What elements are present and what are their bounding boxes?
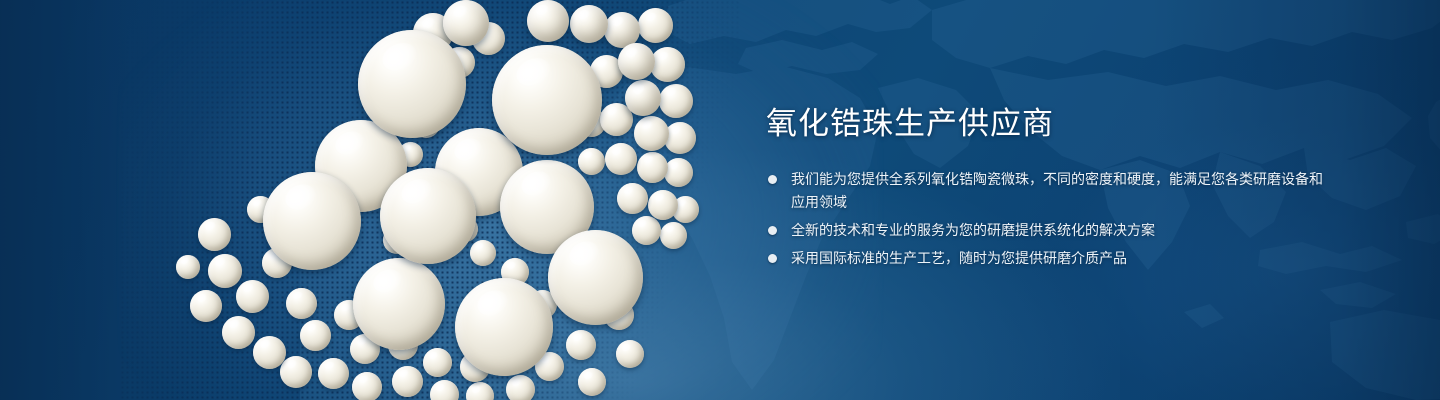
zirconia-bead — [423, 348, 452, 377]
bullet-dot-icon — [768, 254, 777, 263]
bullet-dot-icon — [768, 175, 777, 184]
zirconia-bead — [648, 190, 678, 220]
zirconia-bead — [253, 336, 286, 369]
zirconia-bead — [443, 0, 489, 46]
bullet-dot-icon — [768, 226, 777, 235]
zirconia-bead — [638, 8, 673, 43]
zirconia-bead — [176, 255, 200, 279]
banner-content: 氧化锆珠生产供应商 我们能为您提供全系列氧化锆陶瓷微珠，不同的密度和硬度，能满足… — [766, 104, 1326, 270]
zirconia-bead — [578, 148, 605, 175]
zirconia-bead — [358, 30, 466, 138]
list-item-label: 我们能为您提供全系列氧化锆陶瓷微珠，不同的密度和硬度，能满足您各类研磨设备和应用… — [791, 171, 1323, 210]
zirconia-bead — [380, 168, 476, 264]
zirconia-bead — [300, 320, 331, 351]
zirconia-bead — [664, 158, 693, 187]
zirconia-bead — [659, 84, 693, 118]
zirconia-bead — [570, 5, 608, 43]
zirconia-bead — [616, 340, 644, 368]
list-item: 采用国际标准的生产工艺，随时为您提供研磨介质产品 — [766, 247, 1326, 270]
zirconia-bead — [618, 43, 655, 80]
zirconia-bead — [352, 372, 382, 400]
zirconia-bead — [632, 216, 661, 245]
zirconia-bead — [625, 80, 661, 116]
zirconia-bead — [353, 258, 445, 350]
list-item-label: 采用国际标准的生产工艺，随时为您提供研磨介质产品 — [791, 250, 1127, 266]
list-item: 全新的技术和专业的服务为您的研磨提供系统化的解决方案 — [766, 219, 1326, 242]
zirconia-bead — [222, 316, 255, 349]
zirconia-bead — [190, 290, 222, 322]
zirconia-bead — [198, 218, 231, 251]
feature-list: 我们能为您提供全系列氧化锆陶瓷微珠，不同的密度和硬度，能满足您各类研磨设备和应用… — [766, 168, 1326, 270]
zirconia-bead — [664, 122, 696, 154]
zirconia-bead — [650, 47, 685, 82]
hero-banner: 氧化锆珠生产供应商 我们能为您提供全系列氧化锆陶瓷微珠，不同的密度和硬度，能满足… — [0, 0, 1440, 400]
zirconia-bead — [605, 143, 637, 175]
zirconia-bead — [470, 240, 496, 266]
zirconia-bead — [236, 280, 269, 313]
zirconia-bead — [660, 222, 687, 249]
zirconia-bead — [527, 0, 569, 42]
zirconia-bead — [492, 45, 602, 155]
zirconia-bead — [318, 358, 349, 389]
zirconia-bead — [430, 380, 459, 400]
zirconia-bead — [617, 183, 648, 214]
zirconia-bead — [506, 375, 535, 400]
zirconia-bead — [634, 116, 669, 151]
zirconia-bead — [637, 152, 668, 183]
zirconia-bead — [286, 288, 317, 319]
zirconia-bead — [578, 368, 606, 396]
page-title: 氧化锆珠生产供应商 — [766, 104, 1326, 144]
zirconia-bead — [280, 356, 312, 388]
zirconia-bead — [263, 172, 361, 270]
zirconia-bead — [208, 254, 242, 288]
zirconia-bead — [548, 230, 643, 325]
list-item: 我们能为您提供全系列氧化锆陶瓷微珠，不同的密度和硬度，能满足您各类研磨设备和应用… — [766, 168, 1326, 214]
list-item-label: 全新的技术和专业的服务为您的研磨提供系统化的解决方案 — [791, 222, 1155, 238]
zirconia-bead — [566, 330, 596, 360]
zirconia-bead — [455, 278, 553, 376]
zirconia-bead — [466, 382, 494, 400]
zirconia-bead — [392, 366, 423, 397]
